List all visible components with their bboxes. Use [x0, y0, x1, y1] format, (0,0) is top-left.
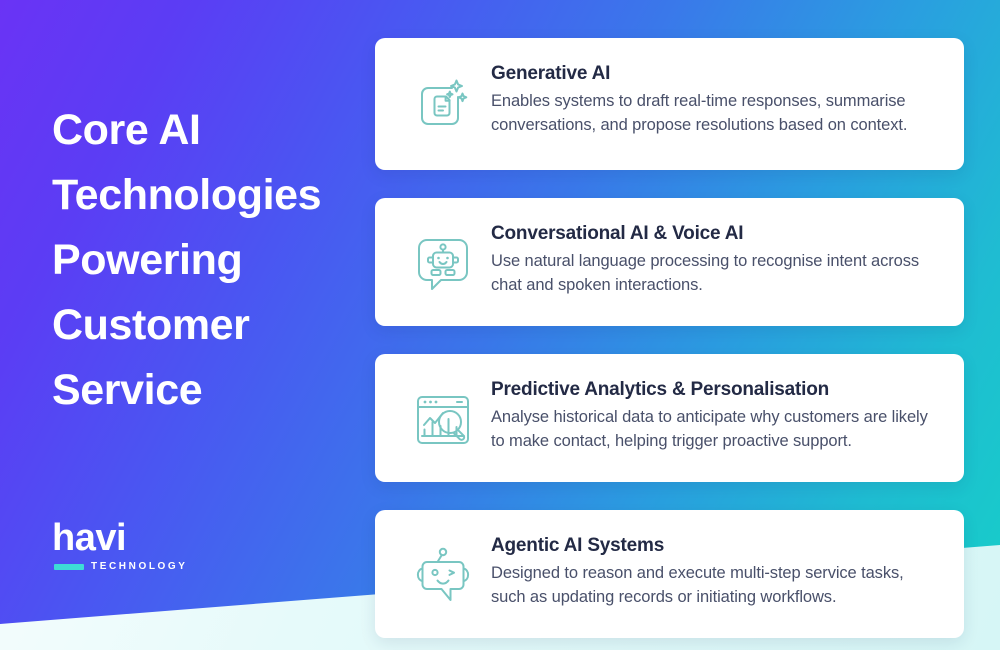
- brand-logo: havi TECHNOLOGY: [52, 519, 232, 572]
- page-title: Core AI Technologies Powering Customer S…: [52, 98, 362, 423]
- card-description: Designed to reason and execute multi-ste…: [491, 561, 942, 609]
- feature-card-list: Generative AI Enables systems to draft r…: [375, 38, 964, 638]
- feature-card-agentic-ai[interactable]: Agentic AI Systems Designed to reason an…: [375, 510, 964, 638]
- logo-subtitle: TECHNOLOGY: [91, 561, 188, 572]
- winking-robot-icon: [401, 534, 485, 618]
- logo-accent-dash-icon: [54, 564, 84, 570]
- hero-block: Core AI Technologies Powering Customer S…: [52, 98, 362, 423]
- card-text-block: Predictive Analytics & Personalisation A…: [485, 374, 942, 453]
- feature-card-conversational-ai[interactable]: Conversational AI & Voice AI Use natural…: [375, 198, 964, 326]
- card-text-block: Agentic AI Systems Designed to reason an…: [485, 530, 942, 609]
- logo-subtitle-row: TECHNOLOGY: [54, 561, 232, 572]
- chatbot-speech-bubble-icon: [401, 222, 485, 306]
- feature-card-predictive-analytics[interactable]: Predictive Analytics & Personalisation A…: [375, 354, 964, 482]
- logo-wordmark: havi: [52, 519, 232, 557]
- card-description: Enables systems to draft real-time respo…: [491, 89, 942, 137]
- card-description: Analyse historical data to anticipate wh…: [491, 405, 942, 453]
- card-text-block: Generative AI Enables systems to draft r…: [485, 58, 942, 137]
- infographic-canvas: Core AI Technologies Powering Customer S…: [0, 0, 1000, 650]
- card-description: Use natural language processing to recog…: [491, 249, 942, 297]
- card-title: Agentic AI Systems: [491, 534, 942, 558]
- analytics-dashboard-magnifier-icon: [401, 378, 485, 462]
- card-title: Conversational AI & Voice AI: [491, 222, 942, 246]
- card-title: Generative AI: [491, 62, 942, 86]
- feature-card-generative-ai[interactable]: Generative AI Enables systems to draft r…: [375, 38, 964, 170]
- card-title: Predictive Analytics & Personalisation: [491, 378, 942, 402]
- document-sparkle-icon: [401, 62, 485, 146]
- card-text-block: Conversational AI & Voice AI Use natural…: [485, 218, 942, 297]
